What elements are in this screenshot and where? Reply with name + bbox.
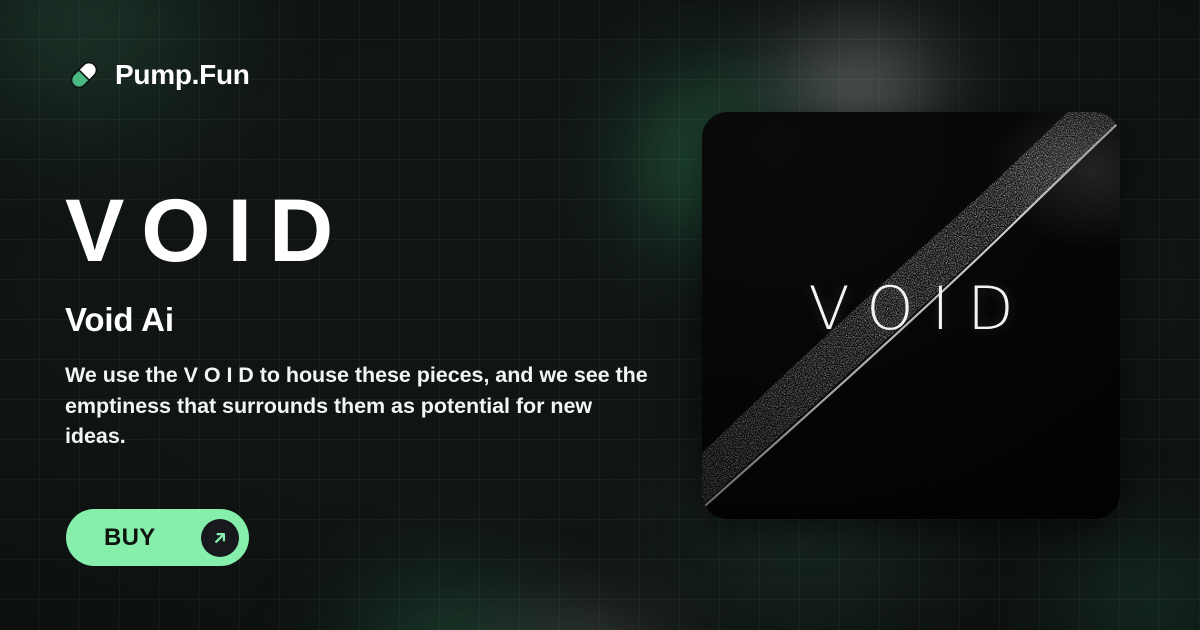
content-layer: Pump.Fun VOID Void Ai We use the V O I D… (0, 0, 1200, 630)
share-card: Pump.Fun VOID Void Ai We use the V O I D… (0, 0, 1200, 630)
pill-icon (66, 57, 102, 93)
token-description: We use the V O I D to house these pieces… (65, 360, 655, 452)
buy-button[interactable]: BUY (66, 509, 249, 566)
token-image-word: VOID (702, 279, 1120, 339)
token-info: VOID Void Ai We use the V O I D to house… (65, 186, 665, 452)
brand-name: Pump.Fun (115, 61, 250, 89)
brand-logo[interactable]: Pump.Fun (66, 57, 250, 93)
token-image-card[interactable]: VOID (702, 112, 1120, 519)
token-name: Void Ai (65, 302, 665, 338)
token-symbol: VOID (65, 186, 665, 275)
arrow-up-right-icon (201, 519, 239, 557)
buy-button-label: BUY (104, 526, 156, 550)
